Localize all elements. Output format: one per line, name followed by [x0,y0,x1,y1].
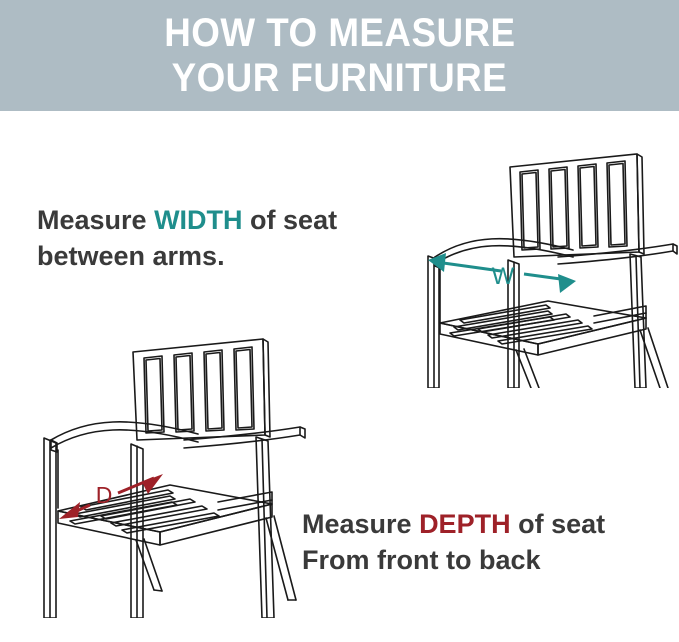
back-slat-2-inner [551,170,567,248]
back-slat-3-inner [206,353,222,430]
width-dimension-label: W [492,263,515,290]
caption-width-keyword: WIDTH [154,205,242,235]
caption-depth-line-2: From front to back [302,542,605,578]
chair-back-panel-edge [637,154,644,254]
back-slat-1-inner [522,173,538,249]
rear-right-leg-a [640,330,660,388]
seat-slat-1 [460,305,550,323]
chair-bottom-linework [44,339,305,618]
right-armrest-end [673,244,677,254]
caption-width-line-1: Measure WIDTH of seat [37,202,337,238]
chair-illustration-width: W [398,138,679,388]
width-dimension-arrow: W [428,253,576,293]
right-armrest-end [300,427,305,438]
caption-measure-width: Measure WIDTH of seat between arms. [37,202,337,274]
depth-dimension-label: D [96,482,113,508]
page-title-line-1: HOW TO MEASURE [164,11,515,56]
width-arrow-head-right [558,274,576,293]
caption-width-line-2: between arms. [37,238,337,274]
caption-measure-depth: Measure DEPTH of seat From front to back [302,506,605,578]
caption-depth-prefix: Measure [302,509,419,539]
chair-top-linework [428,154,677,388]
back-slat-4-inner [236,350,252,429]
caption-width-prefix: Measure [37,205,154,235]
caption-depth-line-1: Measure DEPTH of seat [302,506,605,542]
back-slat-4-inner [609,164,625,246]
right-rear-post-crease [636,256,640,388]
chair-back-panel-edge [263,339,270,437]
chair-illustration-depth: D [18,318,308,618]
rear-left-leg-b [144,539,162,591]
infographic-canvas: HOW TO MEASURE YOUR FURNITURE Measure WI… [0,0,679,642]
caption-depth-suffix: of seat [511,509,606,539]
depth-dimension-arrow: D [59,474,163,519]
rear-right-leg-b [648,328,668,388]
rear-left-leg-a [136,540,154,590]
rear-left-leg-foot [154,590,162,591]
caption-width-suffix: of seat [243,205,338,235]
caption-depth-keyword: DEPTH [419,509,511,539]
header-banner: HOW TO MEASURE YOUR FURNITURE [0,0,679,111]
back-slat-2-inner [176,356,192,431]
back-slat-1-inner [146,359,162,432]
right-rear-post-crease [262,439,267,618]
page-title-line-2: YOUR FURNITURE [172,56,508,101]
back-slat-3-inner [580,167,596,247]
